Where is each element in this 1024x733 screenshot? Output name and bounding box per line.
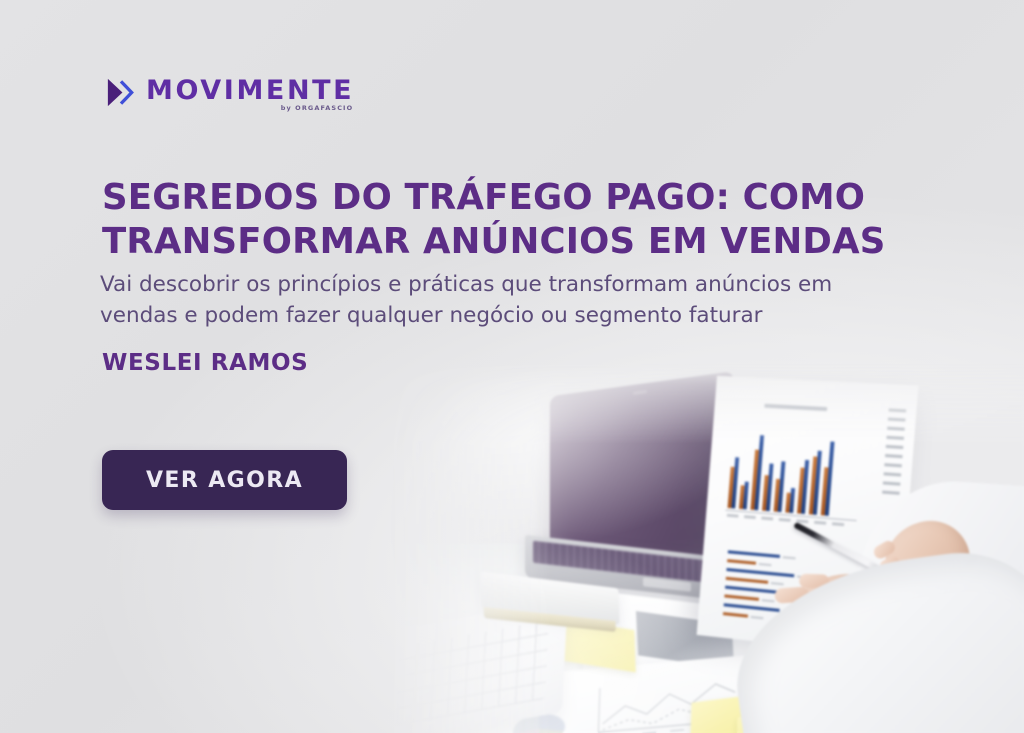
watch-now-button[interactable]: VER AGORA: [102, 450, 347, 510]
bar-group: [821, 441, 835, 516]
brand-tagline: by ORGAFASCIO: [281, 104, 353, 112]
author-name: WESLEI RAMOS: [102, 350, 308, 376]
report-bar-chart: [728, 428, 860, 518]
page-title: SEGREDOS DO TRÁFEGO PAGO: COMO TRANSFORM…: [102, 176, 914, 264]
double-chevron-play-icon: [104, 76, 137, 109]
bar-group: [809, 450, 822, 514]
bar-group: [728, 457, 740, 509]
report-title-line: [764, 404, 827, 411]
bar-group: [739, 481, 749, 509]
bar-group: [762, 463, 773, 511]
hero-photo: [385, 362, 1024, 733]
report-chart-legend: [882, 408, 906, 494]
bar-group: [797, 460, 809, 514]
bar-group: [785, 488, 795, 513]
page-subtitle: Vai descobrir os princípios e práticas q…: [100, 270, 880, 331]
brand-logo[interactable]: MOVIMENTE by ORGAFASCIO: [104, 76, 354, 109]
brand-name: MOVIMENTE: [146, 77, 354, 104]
banner-canvas: MOVIMENTE by ORGAFASCIO SEGREDOS DO TRÁF…: [0, 0, 1024, 733]
brand-wordmark: MOVIMENTE by ORGAFASCIO: [146, 76, 354, 104]
bar-group: [774, 461, 786, 512]
